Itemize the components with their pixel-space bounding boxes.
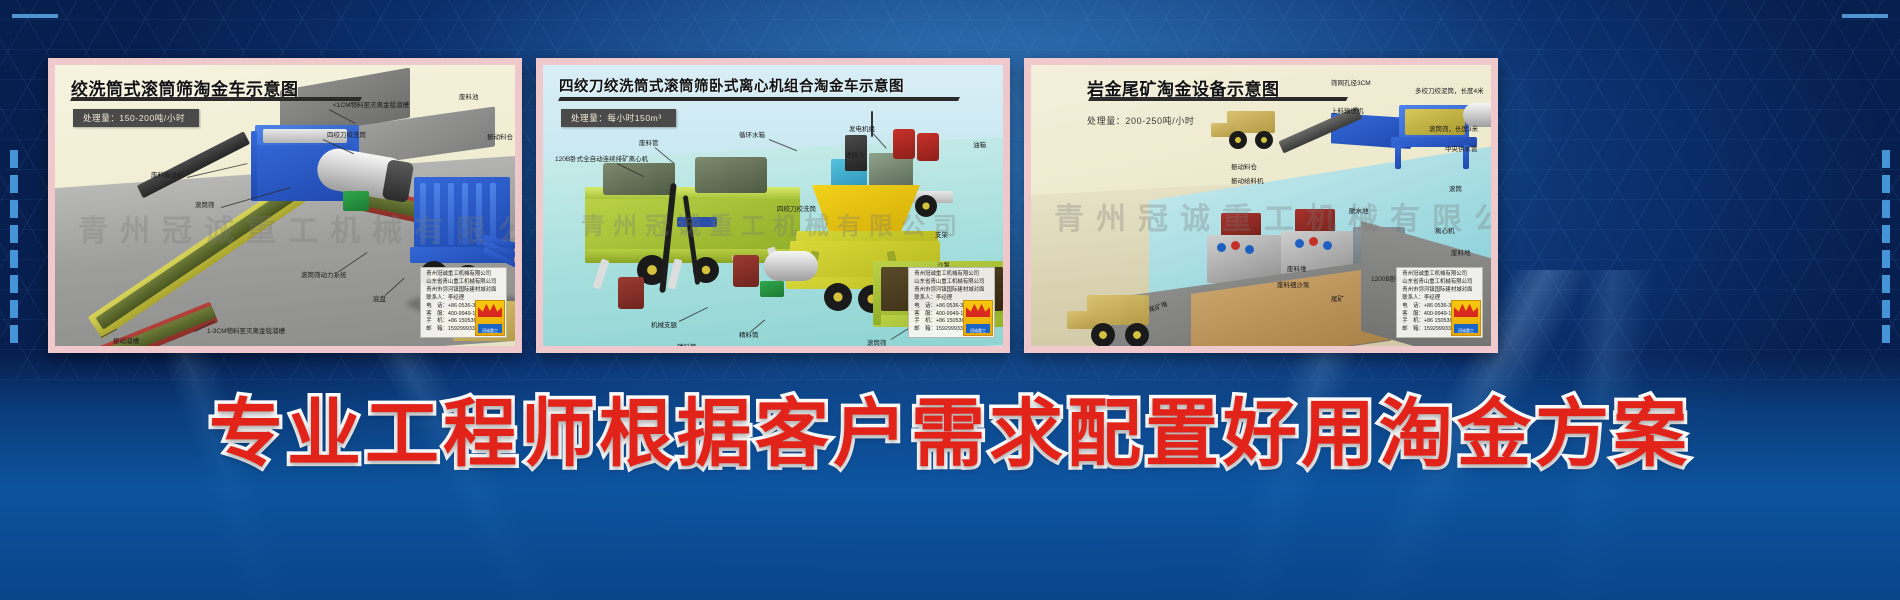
panel-2-callout-10: 精料管 xyxy=(677,345,697,346)
panel-1-title-rule xyxy=(70,97,362,101)
panel-2-callout-0: 120B卧式全自动连续排矿离心机 xyxy=(555,157,648,164)
panel-3-title-rule xyxy=(1088,97,1348,101)
panel-3-sheet: 青州冠诚重工机械有限公司 岩金尾矿淘金设备示意图 处理量：200-250吨/小时… xyxy=(1031,65,1491,346)
poster-headline: 专业工程师根据客户需求配置好用淘金方案 xyxy=(0,372,1900,482)
panel-2-contact-company2: 山东省青山重工机械有限公司 xyxy=(914,279,989,287)
panel-3-callout-8: 脱水池 xyxy=(1349,209,1369,216)
panel-1-sheet: 青州冠诚重工机械有限公司 绞洗筒式滚筒筛淘金车示意图 处理量：150-200吨/… xyxy=(55,65,515,346)
panel-3-crest-logo: 冠诚重工 xyxy=(1451,300,1481,336)
panel-1-callout-11: 振动溜槽 xyxy=(113,339,139,346)
panel-2-callout-6: 四绞刀绞洗筒 xyxy=(777,207,816,214)
panel-2-callout-2: 循环水箱 xyxy=(739,133,765,140)
panel-3-contact-address: 青州市弥河镇国际建材城对面 xyxy=(1402,287,1477,295)
panel-1-callout-1: 废料池 xyxy=(459,95,479,102)
poster-stage: 青州冠诚重工机械有限公司 绞洗筒式滚筒筛淘金车示意图 处理量：150-200吨/… xyxy=(0,0,1900,600)
panel-2-capacity-badge: 处理量：每小时150m³ xyxy=(561,109,676,127)
panel-3-contact-company2: 山东省青山重工机械有限公司 xyxy=(1402,279,1477,287)
panel-1-contact-company2: 山东省青山重工机械有限公司 xyxy=(426,279,501,287)
panel-1-crest-label: 冠诚重工 xyxy=(476,328,504,334)
panel-3-callout-6: 振动给料机 xyxy=(1231,179,1264,186)
panel-2-sheet: 青州冠诚重工机械有限公司 四绞刀绞洗筒式滚筒筛卧式离心机组合淘金车示意图 处理量… xyxy=(543,65,1003,346)
panel-1-crest-logo: 冠诚重工 xyxy=(475,300,505,336)
panel-3-wheel-loader-bottom xyxy=(1067,295,1163,346)
panel-3-wheel-loader-top xyxy=(1211,111,1287,151)
panel-3-callout-2: 上料输送机 xyxy=(1331,109,1364,116)
panel-3-callout-9: 离心机 xyxy=(1435,229,1455,236)
panel-3-callout-14: 尾矿 xyxy=(1331,297,1344,304)
panel-3-callout-7: 滚筒 xyxy=(1449,187,1462,194)
panel-2-title: 四绞刀绞洗筒式滚筒筛卧式离心机组合淘金车示意图 xyxy=(559,75,904,96)
panel-1-callout-3: 四绞刀绞洗筒 xyxy=(327,133,366,140)
panel-2-callout-4: 油箱 xyxy=(973,143,986,150)
panel-2-callout-3: 发电机组 xyxy=(849,127,875,134)
panel-2-callout-5: 进料斗 xyxy=(845,153,865,160)
panel-1-callout-10: 1-3CM物料至灭离金毯溜槽 xyxy=(207,329,285,336)
panel-1-callout-4: 废料输送机 xyxy=(151,173,184,180)
panel-2-crest-logo: 冠诚重工 xyxy=(963,300,993,336)
panel-1-capacity-badge: 处理量：150-200吨/小时 xyxy=(73,109,199,127)
panel-2-callout-8: 机械支腿 xyxy=(651,323,677,330)
panel-1-callout-5: 滚筒筛 xyxy=(195,203,215,210)
panel-2-title-rule xyxy=(558,97,960,101)
panel-2-product-drum-2 xyxy=(733,255,759,287)
panel-3-callout-1: 多绞刀绞泥筒，长度4米 xyxy=(1415,89,1484,96)
panel-2-crest-label: 冠诚重工 xyxy=(964,328,992,334)
panel-1-callout-2: 振动料仓 xyxy=(487,135,513,142)
panel-3-callout-10: 废料地 xyxy=(1451,251,1471,258)
panel-2-callout-11: 滚筒筛 xyxy=(867,341,887,346)
panel-3-callout-12: 废料细沙泵 xyxy=(1277,283,1310,290)
panel-2-hopper xyxy=(812,185,920,233)
panel-2-contact-address: 青州市弥河镇国际建材城对面 xyxy=(914,287,989,295)
diagram-panel-3[interactable]: 青州冠诚重工机械有限公司 岩金尾矿淘金设备示意图 处理量：200-250吨/小时… xyxy=(1024,58,1498,353)
panel-3-callout-11: 废料堆 xyxy=(1287,267,1307,274)
panel-1-callout-6: 滚筒筛动力系统 xyxy=(301,273,347,280)
panel-2-callout-7: 支架 xyxy=(935,233,948,240)
panel-3-capacity-badge: 处理量：200-250吨/小时 xyxy=(1087,111,1209,130)
panel-2-product-drum-1 xyxy=(618,277,644,309)
diagram-panel-1[interactable]: 青州冠诚重工机械有限公司 绞洗筒式滚筒筛淘金车示意图 处理量：150-200吨/… xyxy=(48,58,522,353)
panel-1-drive-motor xyxy=(343,191,369,211)
panel-3-callout-4: 中央供水管 xyxy=(1445,147,1478,154)
panel-1-callout-7: 底盘 xyxy=(373,297,386,304)
panel-row: 青州冠诚重工机械有限公司 绞洗筒式滚筒筛淘金车示意图 处理量：150-200吨/… xyxy=(0,0,1900,375)
panel-1-contact-address: 青州市弥河镇国际建材城对面 xyxy=(426,287,501,295)
panel-2-callout-9: 精料筒 xyxy=(739,333,759,340)
panel-1-callout-0: <1CM物料至灭离金毯溜槽 xyxy=(333,103,409,110)
panel-3-callout-3: 滚筒筛，长度3米 xyxy=(1429,127,1478,134)
panel-3-crest-label: 冠诚重工 xyxy=(1452,328,1480,334)
panel-3-callout-5: 振动料仓 xyxy=(1231,165,1257,172)
diagram-panel-2[interactable]: 青州冠诚重工机械有限公司 四绞刀绞洗筒式滚筒筛卧式离心机组合淘金车示意图 处理量… xyxy=(536,58,1010,353)
panel-3-callout-0: 筛网孔径3CM xyxy=(1331,81,1371,88)
